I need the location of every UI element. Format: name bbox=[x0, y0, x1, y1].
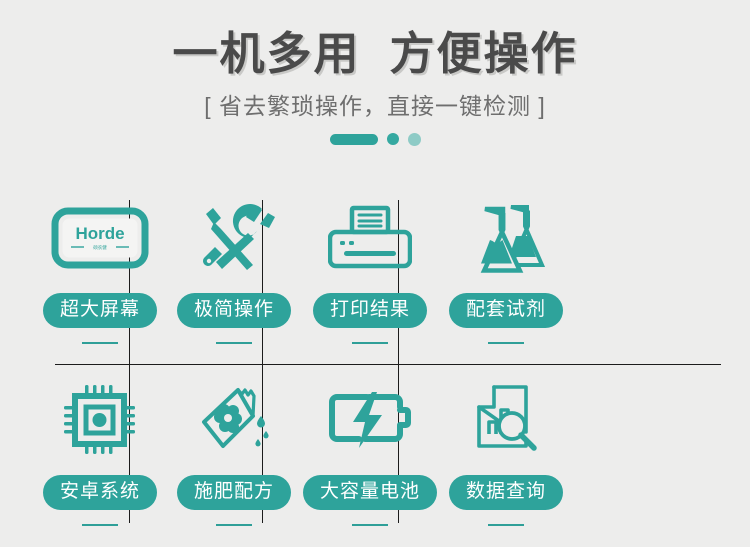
feature-label-data-query[interactable]: 数据查询 bbox=[449, 475, 563, 510]
feature-grid: Horde 硕农健 超大屏幕 bbox=[0, 183, 750, 529]
feature-underline bbox=[352, 524, 388, 526]
svg-text:硕农健: 硕农健 bbox=[93, 244, 107, 251]
page-subtitle: [ 省去繁琐操作，直接一键检测 ] bbox=[0, 87, 750, 121]
pagination-dot-third[interactable] bbox=[408, 133, 421, 146]
feature-label-fertilizer[interactable]: 施肥配方 bbox=[177, 475, 291, 510]
header-banner: 一机多用 方便操作 [ 省去繁琐操作，直接一键检测 ] bbox=[0, 0, 750, 145]
feature-cell-data-query[interactable]: 数据查询 bbox=[412, 379, 600, 526]
feature-label-tools[interactable]: 极简操作 bbox=[177, 293, 291, 328]
flasks-icon bbox=[412, 197, 600, 279]
feature-underline bbox=[352, 342, 388, 344]
feature-label-reagents[interactable]: 配套试剂 bbox=[449, 293, 563, 328]
feature-underline bbox=[488, 342, 524, 344]
document-search-icon bbox=[412, 379, 600, 461]
grid-divider-horizontal bbox=[55, 364, 721, 365]
feature-underline bbox=[488, 524, 524, 526]
feature-underline bbox=[216, 342, 252, 344]
pagination-dot-active[interactable] bbox=[330, 134, 378, 145]
pagination-dot-second[interactable] bbox=[387, 133, 399, 145]
pagination-dots bbox=[0, 133, 750, 145]
feature-underline bbox=[82, 342, 118, 344]
feature-underline bbox=[82, 524, 118, 526]
feature-label-printer[interactable]: 打印结果 bbox=[313, 293, 427, 328]
page-title: 一机多用 方便操作 bbox=[0, 30, 750, 77]
feature-cell-reagents[interactable]: 配套试剂 bbox=[412, 197, 600, 344]
feature-underline bbox=[216, 524, 252, 526]
svg-text:Horde: Horde bbox=[75, 224, 124, 243]
